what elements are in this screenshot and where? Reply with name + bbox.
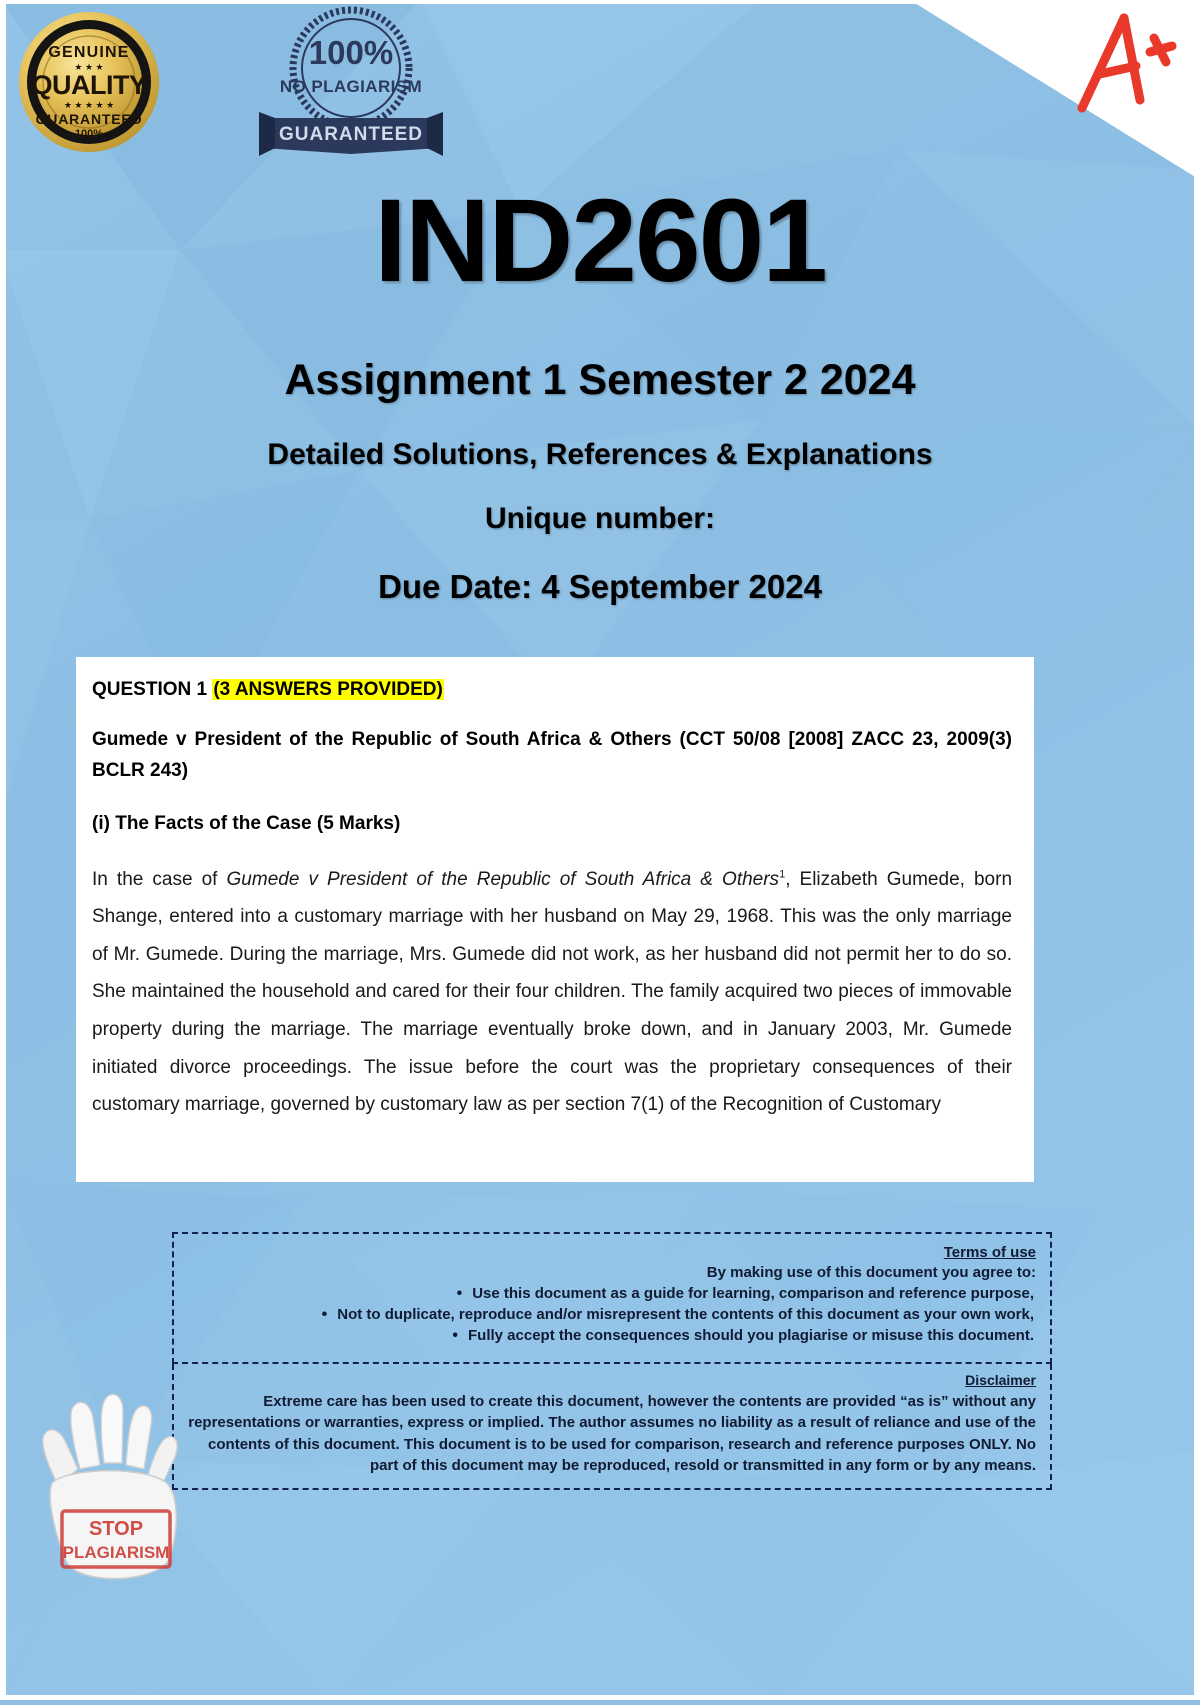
trust-badges-row: GENUINE ★ ★ ★ QUALITY ★ ★ ★ ★ ★ GUARANTE… <box>14 6 449 166</box>
list-item: •Use this document as a guide for learni… <box>188 1285 1036 1303</box>
unique-number-label: Unique number: <box>0 502 1200 536</box>
legal-notices: Terms of use By making use of this docum… <box>172 1232 1052 1490</box>
terms-of-use-intro: By making use of this document you agree… <box>188 1264 1036 1281</box>
assignment-subtitle: Assignment 1 Semester 2 2024 <box>0 356 1200 405</box>
course-code-title: IND2601 <box>0 182 1200 300</box>
question-preview-card: QUESTION 1 (3 ANSWERS PROVIDED) Gumede v… <box>76 657 1034 1182</box>
genuine-quality-seal: GENUINE ★ ★ ★ QUALITY ★ ★ ★ ★ ★ GUARANTE… <box>14 6 164 163</box>
terms-of-use-box: Terms of use By making use of this docum… <box>172 1232 1052 1364</box>
disclaimer-title: Disclaimer <box>188 1372 1036 1388</box>
terms-bullet-text: Not to duplicate, reproduce and/or misre… <box>337 1306 1034 1323</box>
stamp-plagiarism-text: PLAGIARISM <box>63 1543 170 1562</box>
due-date-label: Due Date: 4 September 2024 <box>0 568 1200 606</box>
bullet-icon: • <box>322 1306 328 1323</box>
stop-plagiarism-hand: STOP PLAGIARISM <box>18 1365 208 1595</box>
seal-main-text: QUALITY <box>32 70 147 100</box>
paragraph-body: , Elizabeth Gumede, born Shange, entered… <box>92 869 1012 1116</box>
terms-of-use-title: Terms of use <box>188 1244 1036 1261</box>
stamp-percent: 100% <box>309 34 393 71</box>
title-block: IND2601 Assignment 1 Semester 2 2024 Det… <box>0 182 1200 606</box>
seal-top-text: GENUINE <box>48 44 129 61</box>
stamp-line1: NO PLAGIARISM <box>280 77 422 96</box>
list-item: •Not to duplicate, reproduce and/or misr… <box>188 1306 1036 1324</box>
facts-paragraph: In the case of Gumede v President of the… <box>92 861 1012 1124</box>
no-plagiarism-stamp: 100% NO PLAGIARISM GUARANTEED <box>254 6 449 166</box>
a-plus-grade-icon <box>1066 4 1186 124</box>
answers-provided-badge: (3 ANSWERS PROVIDED) <box>212 679 443 700</box>
disclaimer-box: Disclaimer Extreme care has been used to… <box>172 1364 1052 1490</box>
facts-subheading: (i) The Facts of the Case (5 Marks) <box>92 813 1012 835</box>
terms-bullet-text: Fully accept the consequences should you… <box>468 1327 1034 1344</box>
seal-percent-text: 100% <box>75 128 103 140</box>
question-heading: QUESTION 1 (3 ANSWERS PROVIDED) <box>92 679 1012 701</box>
paragraph-case-italic: Gumede v President of the Republic of So… <box>227 869 780 890</box>
hand-graphic: STOP PLAGIARISM <box>43 1394 177 1578</box>
solutions-subtitle: Detailed Solutions, References & Explana… <box>0 438 1200 472</box>
terms-bullet-text: Use this document as a guide for learnin… <box>472 1285 1034 1302</box>
svg-text:★ ★ ★ ★ ★: ★ ★ ★ ★ ★ <box>64 100 114 110</box>
stamp-stop-text: STOP <box>89 1518 143 1540</box>
disclaimer-text: Extreme care has been used to create thi… <box>188 1391 1036 1476</box>
case-citation: Gumede v President of the Republic of So… <box>92 725 1012 787</box>
stamp-ribbon: GUARANTEED <box>279 124 423 145</box>
list-item: •Fully accept the consequences should yo… <box>188 1327 1036 1345</box>
bullet-icon: • <box>452 1327 458 1344</box>
seal-sub-text: GUARANTEED <box>36 111 143 127</box>
bullet-icon: • <box>457 1285 463 1302</box>
paragraph-lead: In the case of <box>92 869 227 890</box>
terms-of-use-list: •Use this document as a guide for learni… <box>188 1285 1036 1345</box>
question-label: QUESTION 1 <box>92 679 207 700</box>
